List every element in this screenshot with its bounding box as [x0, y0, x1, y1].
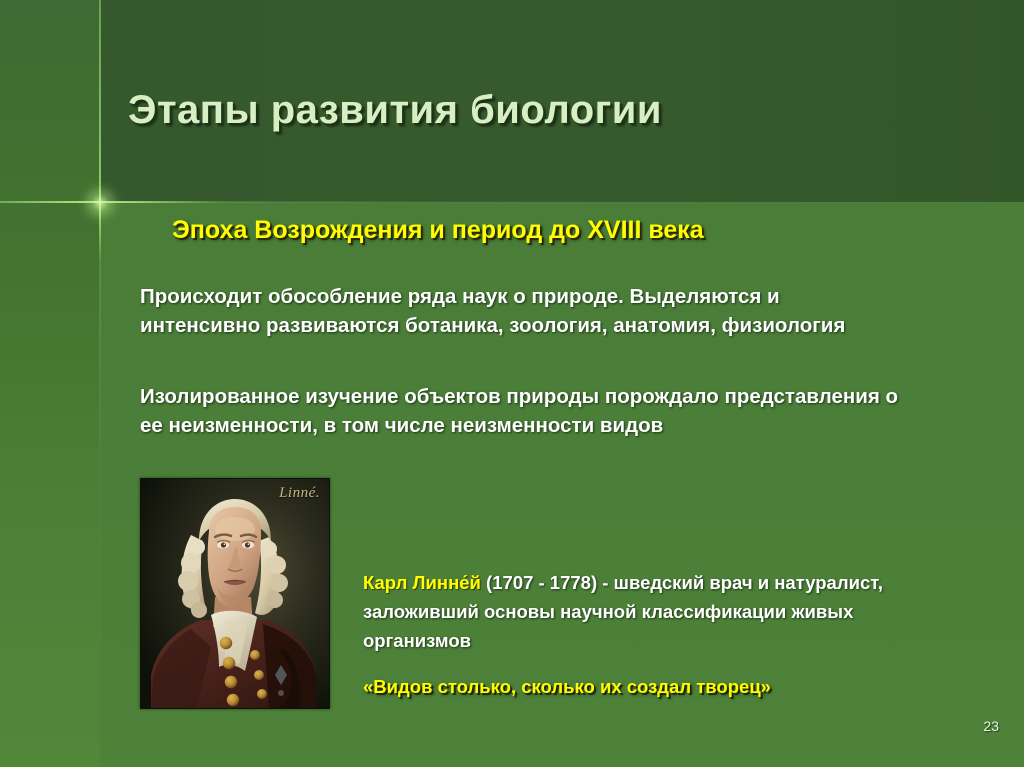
linnaeus-portrait: Linné. — [140, 478, 330, 709]
horizontal-guide-line — [0, 201, 1024, 203]
slide-background-left-column — [0, 0, 100, 767]
slide-title: Этапы развития биологии — [128, 88, 662, 133]
portrait-caption: Карл Линне́й (1707 - 1778) - шведский вр… — [363, 568, 908, 655]
presentation-slide: Этапы развития биологии Эпоха Возрождени… — [0, 0, 1024, 767]
body-paragraph-2: Изолированное изучение объектов природы … — [140, 382, 902, 440]
body-paragraph-1: Происходит обособление ряда наук о приро… — [140, 282, 902, 340]
portrait-signature: Linné. — [279, 485, 320, 502]
linnaeus-portrait-image — [141, 479, 329, 708]
linnaeus-quote: «Видов столько, сколько их создал творец… — [363, 676, 771, 698]
vertical-guide-line — [99, 0, 101, 767]
slide-subtitle: Эпоха Возрождения и период до XVIII века — [172, 216, 704, 245]
slide-page-number: 23 — [983, 718, 999, 734]
scientist-name: Карл Линне́й — [363, 572, 481, 593]
